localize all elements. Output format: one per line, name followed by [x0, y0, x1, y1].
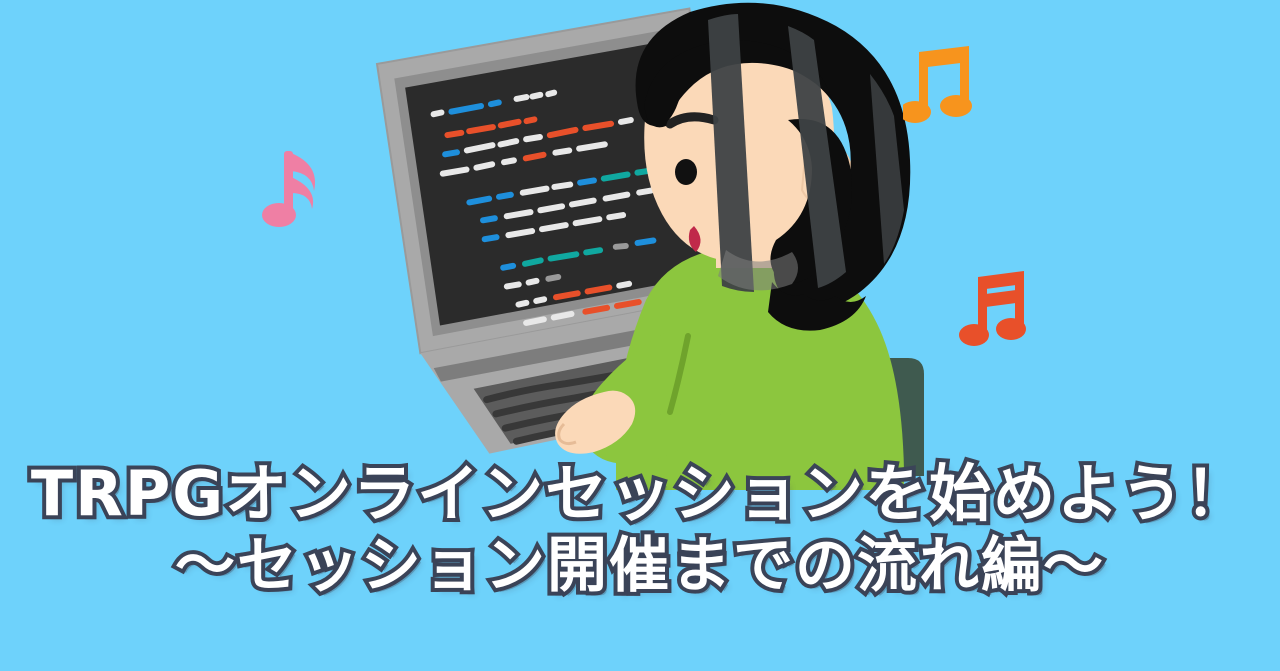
title-block: TRPGオンラインセッションを始めよう！ 〜セッション開催までの流れ編〜	[0, 462, 1280, 598]
page-title: TRPGオンラインセッションを始めよう！	[0, 462, 1280, 526]
red-music-note-icon	[958, 265, 1038, 355]
pink-music-note-icon	[262, 143, 332, 233]
page-subtitle: 〜セッション開催までの流れ編〜	[0, 536, 1280, 598]
eye	[675, 159, 697, 185]
banner-root: TRPGオンラインセッションを始めよう！ 〜セッション開催までの流れ編〜	[0, 0, 1280, 671]
orange-music-note-icon	[903, 42, 981, 130]
